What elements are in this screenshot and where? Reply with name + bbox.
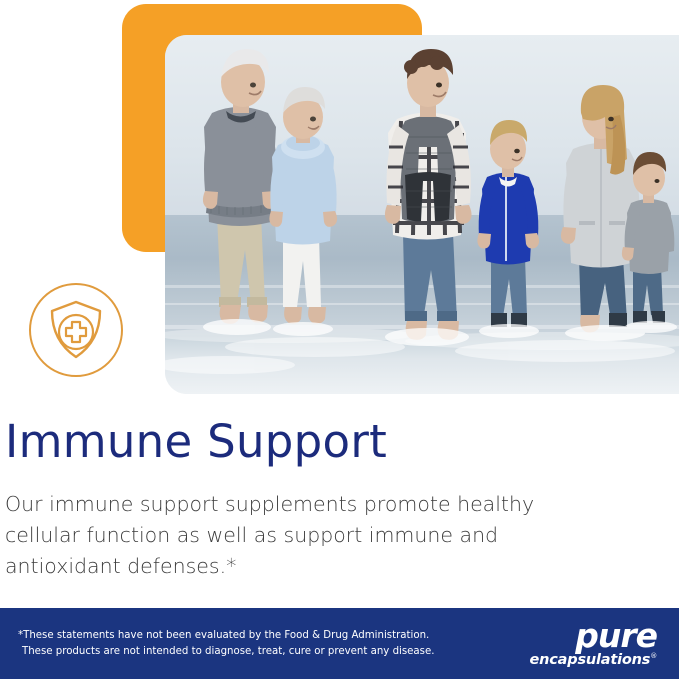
disclaimer-line-2: These products are not intended to diagn…	[18, 644, 435, 660]
brand-logo-subtitle: encapsulations®	[530, 653, 657, 668]
brand-logo[interactable]: pure encapsulations®	[530, 619, 679, 668]
page-description: Our immune support supplements promote h…	[5, 489, 605, 582]
shield-medical-cross-icon	[26, 280, 126, 380]
footer-banner: *These statements have not been evaluate…	[0, 608, 679, 679]
hero-section	[0, 0, 679, 400]
content-block: Immune Support Our immune support supple…	[5, 415, 645, 582]
page-title: Immune Support	[5, 415, 645, 469]
disclaimer-line-1: *These statements have not been evaluate…	[18, 628, 435, 644]
brand-logo-word: pure	[530, 619, 657, 652]
brand-logo-subtitle-text: encapsulations	[530, 652, 651, 668]
registered-mark-icon: ®	[650, 652, 657, 660]
fda-disclaimer: *These statements have not been evaluate…	[0, 628, 435, 660]
hero-photo	[165, 35, 679, 394]
beach-family-illustration	[165, 35, 679, 394]
